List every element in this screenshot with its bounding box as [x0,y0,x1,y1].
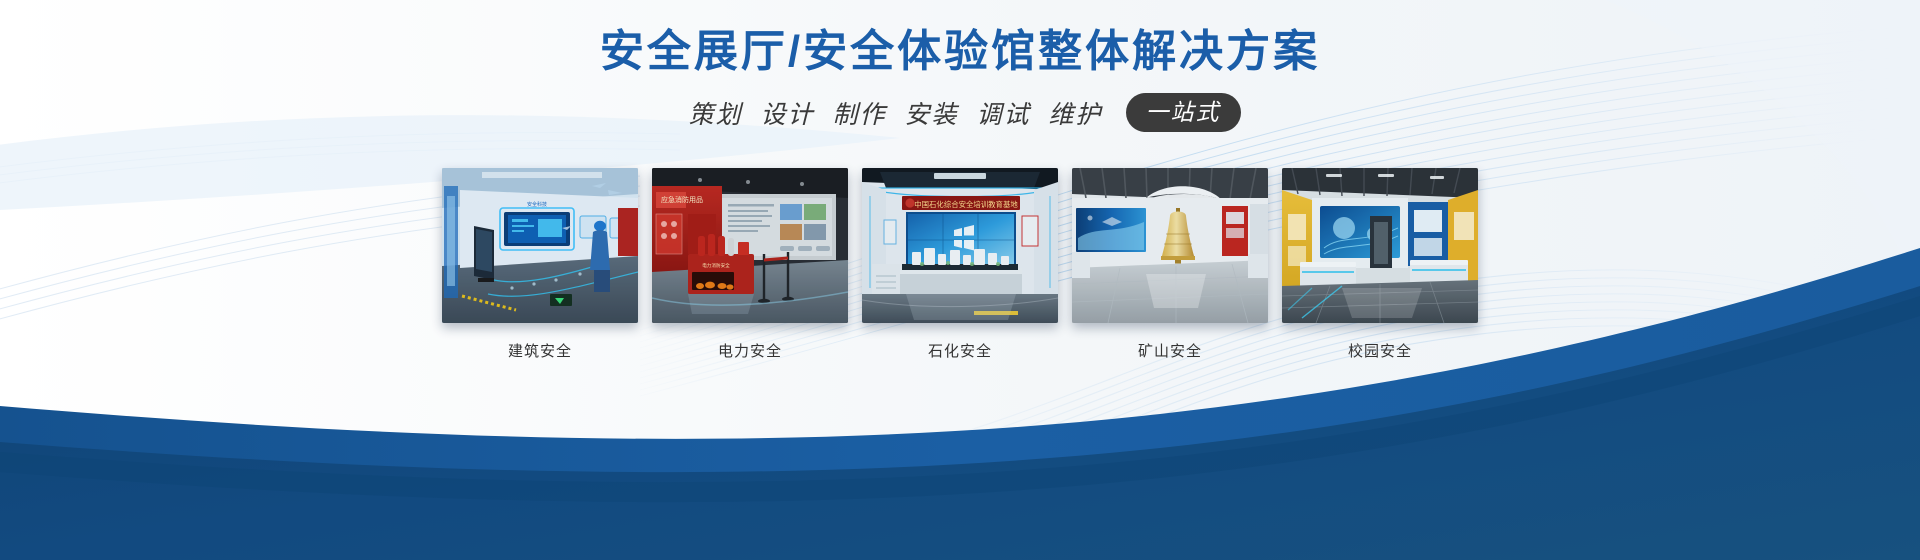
thumbnail-caption: 矿山安全 [1072,340,1268,361]
thumbnail-caption: 校园安全 [1282,340,1478,361]
thumbnail-image-mine-safety[interactable] [1072,168,1268,323]
thumbnail-strip: 安全科技 [0,168,1920,361]
one-stop-badge: 一站式 [1126,93,1241,132]
thumbnail-item[interactable]: 校园安全 [1282,168,1478,361]
subtitle-word-design: 设计 [751,95,823,131]
headline-block: 安全展厅/安全体验馆整体解决方案 策划 设计 制作 安装 调试 维护 一站式 [0,0,1920,132]
thumbnail-item[interactable]: 应急消防用品 电力消防安全 [652,168,848,361]
thumbnail-item[interactable]: 安全科技 [442,168,638,361]
thumbnail-caption: 电力安全 [652,340,848,361]
subtitle-word-planning: 策划 [679,95,751,131]
thumbnail-caption: 石化安全 [862,340,1058,361]
subtitle-row: 策划 设计 制作 安装 调试 维护 一站式 [0,93,1920,132]
thumbnail-item[interactable]: 矿山安全 [1072,168,1268,361]
subtitle-word-production: 制作 [823,95,895,131]
promo-banner: 安全展厅/安全体验馆整体解决方案 策划 设计 制作 安装 调试 维护 一站式 [0,0,1920,560]
subtitle-word-maintenance: 维护 [1040,95,1112,131]
thumbnail-caption: 建筑安全 [442,340,638,361]
thumbnail-image-campus-safety[interactable] [1282,168,1478,323]
thumbnail-item[interactable]: 中国石化综合安全培训教育基地 [862,168,1058,361]
thumbnail-image-petrochemical[interactable]: 中国石化综合安全培训教育基地 [862,168,1058,323]
thumbnail-image-construction[interactable]: 安全科技 [442,168,638,323]
subtitle-word-installation: 安装 [896,95,968,131]
thumbnail-image-electric-power[interactable]: 应急消防用品 电力消防安全 [652,168,848,323]
subtitle-word-commissioning: 调试 [968,95,1040,131]
page-title: 安全展厅/安全体验馆整体解决方案 [0,26,1920,77]
